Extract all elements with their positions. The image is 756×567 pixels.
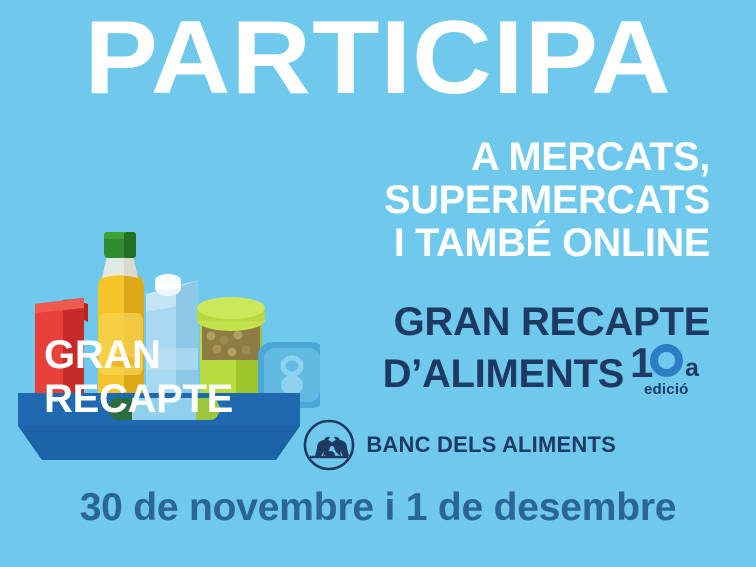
page-title: PARTICIPA (0, 6, 756, 110)
campaign-title-line-2: D’ALIMENTS (383, 352, 624, 396)
subheading-block: A MERCATS, SUPERMERCATS I TAMBÉ ONLINE (290, 136, 710, 265)
subheading-line-2: SUPERMERCATS (294, 179, 710, 222)
banc-dels-aliments-logo: BANC DELS ALIMENTS (302, 418, 616, 472)
logo-wordmark: BANC DELS ALIMENTS (366, 434, 616, 456)
edition-badge: 1 a edició (628, 344, 710, 400)
campaign-title-line-1: GRAN RECAPTE (280, 300, 710, 344)
bag-label-line1: GRAN (44, 333, 294, 377)
subheading-line-3: I TAMBÉ ONLINE (294, 222, 710, 265)
poster-canvas: PARTICIPA (0, 0, 756, 567)
event-date: 30 de novembre i 1 de desembre (0, 486, 756, 530)
badge-ordinal: a (685, 356, 699, 381)
two-birds-feeding-bowl-icon (302, 418, 356, 472)
badge-digit-zero-ring (650, 344, 683, 377)
bag-label-line2: RECAPTE (44, 377, 294, 421)
subheading-line-1: A MERCATS, (294, 136, 710, 179)
bag-label: GRAN RECAPTE (44, 333, 294, 421)
badge-caption: edició (644, 382, 689, 397)
campaign-title-block: GRAN RECAPTE D’ALIMENTS 1 a edició (280, 300, 710, 396)
campaign-title-line-2-row: D’ALIMENTS 1 a edició (280, 344, 710, 396)
